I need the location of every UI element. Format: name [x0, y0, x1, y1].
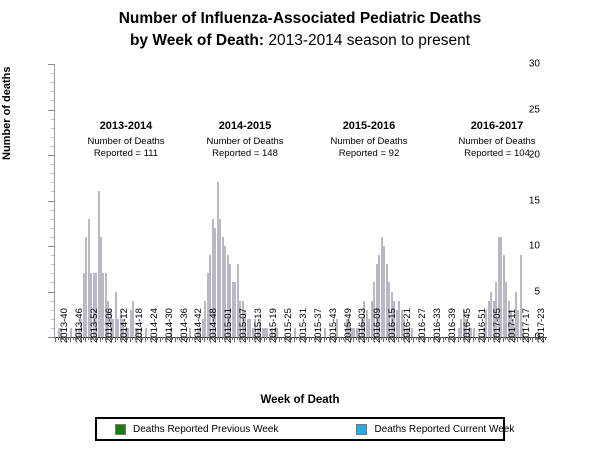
- x-tick-mark: [316, 337, 317, 340]
- x-tick-mark: [520, 337, 521, 340]
- x-tick-mark: [199, 337, 200, 340]
- x-tick-mark: [343, 337, 344, 340]
- x-tick-mark: [336, 337, 337, 340]
- x-tick-mark: [115, 337, 116, 342]
- plot-area: [54, 64, 547, 338]
- x-tick-mark: [289, 337, 290, 340]
- x-tick-mark: [83, 337, 84, 340]
- x-tick-mark: [227, 337, 228, 340]
- x-tick-mark: [542, 337, 543, 340]
- x-tick-mark: [383, 337, 384, 342]
- bar: [473, 328, 475, 337]
- x-tick-mark: [398, 337, 399, 342]
- x-tick-mark: [264, 337, 265, 342]
- chart-title: Number of Influenza-Associated Pediatric…: [0, 8, 600, 52]
- x-tick-mark: [334, 337, 335, 340]
- season-annotation: 2015-2016Number of DeathsReported = 92: [309, 120, 429, 159]
- x-tick-mark: [117, 337, 118, 340]
- x-tick-mark: [172, 337, 173, 340]
- x-tick-mark: [63, 337, 64, 340]
- x-tick-mark: [80, 337, 81, 340]
- season-annotation-line1: Number of Deaths: [309, 136, 429, 148]
- x-tick-mark: [386, 337, 387, 340]
- season-annotation: 2014-2015Number of DeathsReported = 148: [185, 120, 305, 159]
- x-tick-mark: [371, 337, 372, 340]
- x-tick-mark: [209, 337, 210, 340]
- x-tick-mark: [406, 337, 407, 340]
- legend-swatch-current-week-icon: [356, 424, 367, 435]
- x-tick-mark: [184, 337, 185, 340]
- x-tick-mark: [391, 337, 392, 340]
- x-tick-mark: [107, 337, 108, 340]
- x-tick-mark: [425, 337, 426, 340]
- x-tick-mark: [271, 337, 272, 340]
- x-tick-mark: [356, 337, 357, 340]
- x-tick-mark: [187, 337, 188, 340]
- x-tick-mark: [321, 337, 322, 340]
- x-tick-mark: [189, 337, 190, 342]
- x-tick-mark: [401, 337, 402, 340]
- x-tick-mark: [366, 337, 367, 340]
- legend-swatch-previous-week-icon: [115, 424, 126, 435]
- x-tick-mark: [537, 337, 538, 340]
- x-tick-mark: [351, 337, 352, 340]
- x-tick-mark: [291, 337, 292, 340]
- x-tick-mark: [428, 337, 429, 342]
- x-tick-mark: [339, 337, 340, 342]
- season-annotation-title: 2016-2017: [437, 120, 557, 132]
- x-tick-mark: [411, 337, 412, 340]
- x-tick-mark: [413, 337, 414, 342]
- x-tick-mark: [102, 337, 103, 340]
- x-tick-mark: [110, 337, 111, 340]
- x-tick-mark: [435, 337, 436, 340]
- x-tick-mark: [545, 337, 546, 340]
- x-tick-mark: [179, 337, 180, 340]
- x-tick-mark: [65, 337, 66, 340]
- x-tick-mark: [483, 337, 484, 340]
- x-tick-mark: [299, 337, 300, 340]
- x-tick-mark: [480, 337, 481, 340]
- x-tick-mark: [252, 337, 253, 340]
- x-tick-mark: [438, 337, 439, 340]
- bar: [70, 328, 72, 337]
- x-tick-mark: [421, 337, 422, 340]
- x-tick-mark: [470, 337, 471, 340]
- x-tick-mark: [465, 337, 466, 340]
- season-annotation-line2: Reported = 92: [309, 148, 429, 160]
- x-tick-mark: [242, 337, 243, 340]
- x-tick-mark: [137, 337, 138, 340]
- x-tick-mark: [192, 337, 193, 340]
- x-tick-mark: [485, 337, 486, 340]
- x-tick-mark: [204, 337, 205, 342]
- x-tick-mark: [515, 337, 516, 340]
- x-tick-mark: [212, 337, 213, 340]
- x-tick-mark: [165, 337, 166, 340]
- x-tick-mark: [517, 337, 518, 342]
- title-line-1-text: Number of Influenza-Associated Pediatric…: [119, 10, 482, 27]
- x-tick-mark: [122, 337, 123, 340]
- x-tick-mark: [266, 337, 267, 340]
- x-tick-mark: [396, 337, 397, 340]
- x-tick-mark: [500, 337, 501, 340]
- x-tick-mark: [274, 337, 275, 340]
- x-tick-mark: [279, 337, 280, 342]
- x-tick-mark: [112, 337, 113, 340]
- x-tick-mark: [458, 337, 459, 342]
- x-tick-mark: [269, 337, 270, 340]
- title-line-2-strong: by Week of Death:: [130, 32, 264, 49]
- season-annotation-title: 2014-2015: [185, 120, 305, 132]
- x-tick-mark: [167, 337, 168, 340]
- x-tick-mark: [100, 337, 101, 342]
- x-tick-mark: [433, 337, 434, 340]
- x-tick-mark: [140, 337, 141, 340]
- legend-label-current-week: Deaths Reported Current Week: [374, 424, 514, 435]
- x-tick-mark: [224, 337, 225, 340]
- x-tick-mark: [376, 337, 377, 340]
- x-tick-mark: [530, 337, 531, 340]
- x-tick-mark: [194, 337, 195, 340]
- x-tick-mark: [152, 337, 153, 340]
- x-tick-mark: [214, 337, 215, 340]
- x-tick-mark: [254, 337, 255, 340]
- x-tick-mark: [120, 337, 121, 340]
- x-tick-mark: [522, 337, 523, 340]
- x-tick-mark: [440, 337, 441, 340]
- x-tick-mark: [75, 337, 76, 340]
- x-tick-mark: [448, 337, 449, 340]
- x-tick-mark: [284, 337, 285, 340]
- x-tick-mark: [68, 337, 69, 340]
- x-tick-mark: [229, 337, 230, 340]
- x-tick-mark: [93, 337, 94, 340]
- x-tick-mark: [170, 337, 171, 340]
- x-tick-mark: [237, 337, 238, 340]
- x-tick-mark: [304, 337, 305, 340]
- season-annotation-line1: Number of Deaths: [437, 136, 557, 148]
- x-tick-mark: [331, 337, 332, 340]
- x-tick-mark: [219, 337, 220, 342]
- x-tick-mark: [217, 337, 218, 340]
- x-tick-mark: [142, 337, 143, 340]
- chart-legend: Deaths Reported Previous Week Deaths Rep…: [95, 417, 505, 441]
- x-tick-mark: [505, 337, 506, 340]
- x-tick-mark: [177, 337, 178, 340]
- x-tick-mark: [527, 337, 528, 340]
- x-tick-mark: [493, 337, 494, 340]
- season-annotation-line1: Number of Deaths: [66, 136, 186, 148]
- x-tick-mark: [249, 337, 250, 342]
- x-tick-mark: [535, 337, 536, 340]
- x-tick-mark: [73, 337, 74, 340]
- x-tick-mark: [475, 337, 476, 340]
- legend-label-previous-week: Deaths Reported Previous Week: [133, 424, 278, 435]
- x-tick-mark: [468, 337, 469, 340]
- x-tick-mark: [162, 337, 163, 340]
- x-tick-mark: [430, 337, 431, 340]
- x-tick-mark: [207, 337, 208, 340]
- x-tick-mark: [232, 337, 233, 340]
- x-tick-mark: [197, 337, 198, 340]
- x-tick-mark: [130, 337, 131, 342]
- x-tick-mark: [125, 337, 126, 340]
- x-tick-mark: [532, 337, 533, 342]
- x-tick-mark: [512, 337, 513, 340]
- x-axis-title: Week of Death: [0, 394, 600, 406]
- x-tick-mark: [510, 337, 511, 340]
- title-line-1: Number of Influenza-Associated Pediatric…: [0, 8, 600, 30]
- x-tick-mark: [301, 337, 302, 340]
- x-tick-mark: [78, 337, 79, 340]
- influenza-pediatric-deaths-chart: Number of Influenza-Associated Pediatric…: [0, 0, 600, 450]
- x-tick-mark: [135, 337, 136, 340]
- bar: [145, 328, 147, 337]
- x-tick-mark: [381, 337, 382, 340]
- x-tick-mark: [281, 337, 282, 340]
- x-tick-mark: [155, 337, 156, 340]
- x-tick-mark: [378, 337, 379, 340]
- x-tick-mark: [311, 337, 312, 340]
- x-tick-mark: [222, 337, 223, 340]
- x-tick-mark: [408, 337, 409, 340]
- x-tick-mark: [259, 337, 260, 340]
- legend-item-current-week: Deaths Reported Current Week: [356, 424, 514, 435]
- season-annotation: 2013-2014Number of DeathsReported = 111: [66, 120, 186, 159]
- x-tick-mark: [160, 337, 161, 342]
- x-tick-mark: [88, 337, 89, 340]
- x-tick-mark: [455, 337, 456, 340]
- title-line-2: by Week of Death: 2013-2014 season to pr…: [0, 30, 600, 52]
- x-tick-mark: [507, 337, 508, 340]
- x-tick-mark: [202, 337, 203, 340]
- x-tick-mark: [97, 337, 98, 340]
- x-tick-mark: [145, 337, 146, 342]
- x-tick-mark: [373, 337, 374, 340]
- x-tick-mark: [234, 337, 235, 342]
- x-tick-mark: [85, 337, 86, 342]
- x-tick-mark: [261, 337, 262, 340]
- x-tick-mark: [445, 337, 446, 340]
- x-tick-mark: [157, 337, 158, 340]
- x-tick-mark: [239, 337, 240, 340]
- x-tick-mark: [490, 337, 491, 340]
- x-tick-mark: [132, 337, 133, 340]
- x-tick-mark: [540, 337, 541, 340]
- legend-item-previous-week: Deaths Reported Previous Week: [115, 424, 278, 435]
- x-tick-mark: [147, 337, 148, 340]
- x-tick-mark: [58, 337, 59, 340]
- x-tick-mark: [294, 337, 295, 342]
- x-tick-mark: [341, 337, 342, 340]
- x-tick-mark: [363, 337, 364, 340]
- x-tick-mark: [393, 337, 394, 340]
- x-tick-mark: [257, 337, 258, 340]
- x-tick-mark: [286, 337, 287, 340]
- season-annotation-title: 2013-2014: [66, 120, 186, 132]
- x-tick-mark: [503, 337, 504, 342]
- season-annotation-line2: Reported = 148: [185, 148, 305, 160]
- x-tick-mark: [326, 337, 327, 340]
- x-tick-mark: [105, 337, 106, 340]
- x-tick-mark: [175, 337, 176, 342]
- x-tick-mark: [182, 337, 183, 340]
- x-tick-mark: [453, 337, 454, 340]
- season-annotation-line1: Number of Deaths: [185, 136, 305, 148]
- x-tick-mark: [361, 337, 362, 340]
- season-annotation-line2: Reported = 111: [66, 148, 186, 160]
- x-tick-mark: [324, 337, 325, 342]
- x-tick-mark: [488, 337, 489, 342]
- x-tick-mark: [416, 337, 417, 340]
- season-annotation-title: 2015-2016: [309, 120, 429, 132]
- x-tick-mark: [358, 337, 359, 340]
- x-tick-mark: [353, 337, 354, 342]
- x-tick-mark: [127, 337, 128, 340]
- x-tick-mark: [463, 337, 464, 340]
- x-tick-mark: [368, 337, 369, 342]
- x-tick-mark: [55, 337, 56, 342]
- x-tick-mark: [346, 337, 347, 340]
- x-tick-mark: [348, 337, 349, 340]
- season-annotation-line2: Reported = 104: [437, 148, 557, 160]
- x-tick-mark: [247, 337, 248, 340]
- x-tick-mark: [309, 337, 310, 342]
- x-tick-mark: [60, 337, 61, 340]
- x-tick-mark: [403, 337, 404, 340]
- x-tick-mark: [525, 337, 526, 340]
- x-tick-mark: [388, 337, 389, 340]
- bars-layer: [55, 64, 547, 337]
- x-tick-mark: [478, 337, 479, 340]
- x-tick-mark: [314, 337, 315, 340]
- x-tick-mark: [276, 337, 277, 340]
- x-tick-mark: [306, 337, 307, 340]
- season-annotation: 2016-2017Number of DeathsReported = 104: [437, 120, 557, 159]
- x-tick-mark: [329, 337, 330, 340]
- x-tick-mark: [319, 337, 320, 340]
- x-tick-mark: [244, 337, 245, 340]
- x-tick-mark: [296, 337, 297, 340]
- x-tick-mark: [443, 337, 444, 342]
- x-tick-mark: [70, 337, 71, 342]
- x-tick-mark: [90, 337, 91, 340]
- x-tick-mark: [498, 337, 499, 340]
- x-tick-mark: [423, 337, 424, 340]
- x-tick-mark: [450, 337, 451, 340]
- x-tick-mark: [495, 337, 496, 340]
- x-tick-mark: [150, 337, 151, 340]
- x-tick-mark: [95, 337, 96, 340]
- title-line-2-normal: 2013-2014 season to present: [264, 32, 470, 49]
- x-tick-mark: [460, 337, 461, 340]
- x-tick-mark: [473, 337, 474, 342]
- x-tick-mark: [418, 337, 419, 340]
- bar: [294, 328, 296, 337]
- y-axis-title: Number of deaths: [1, 144, 13, 160]
